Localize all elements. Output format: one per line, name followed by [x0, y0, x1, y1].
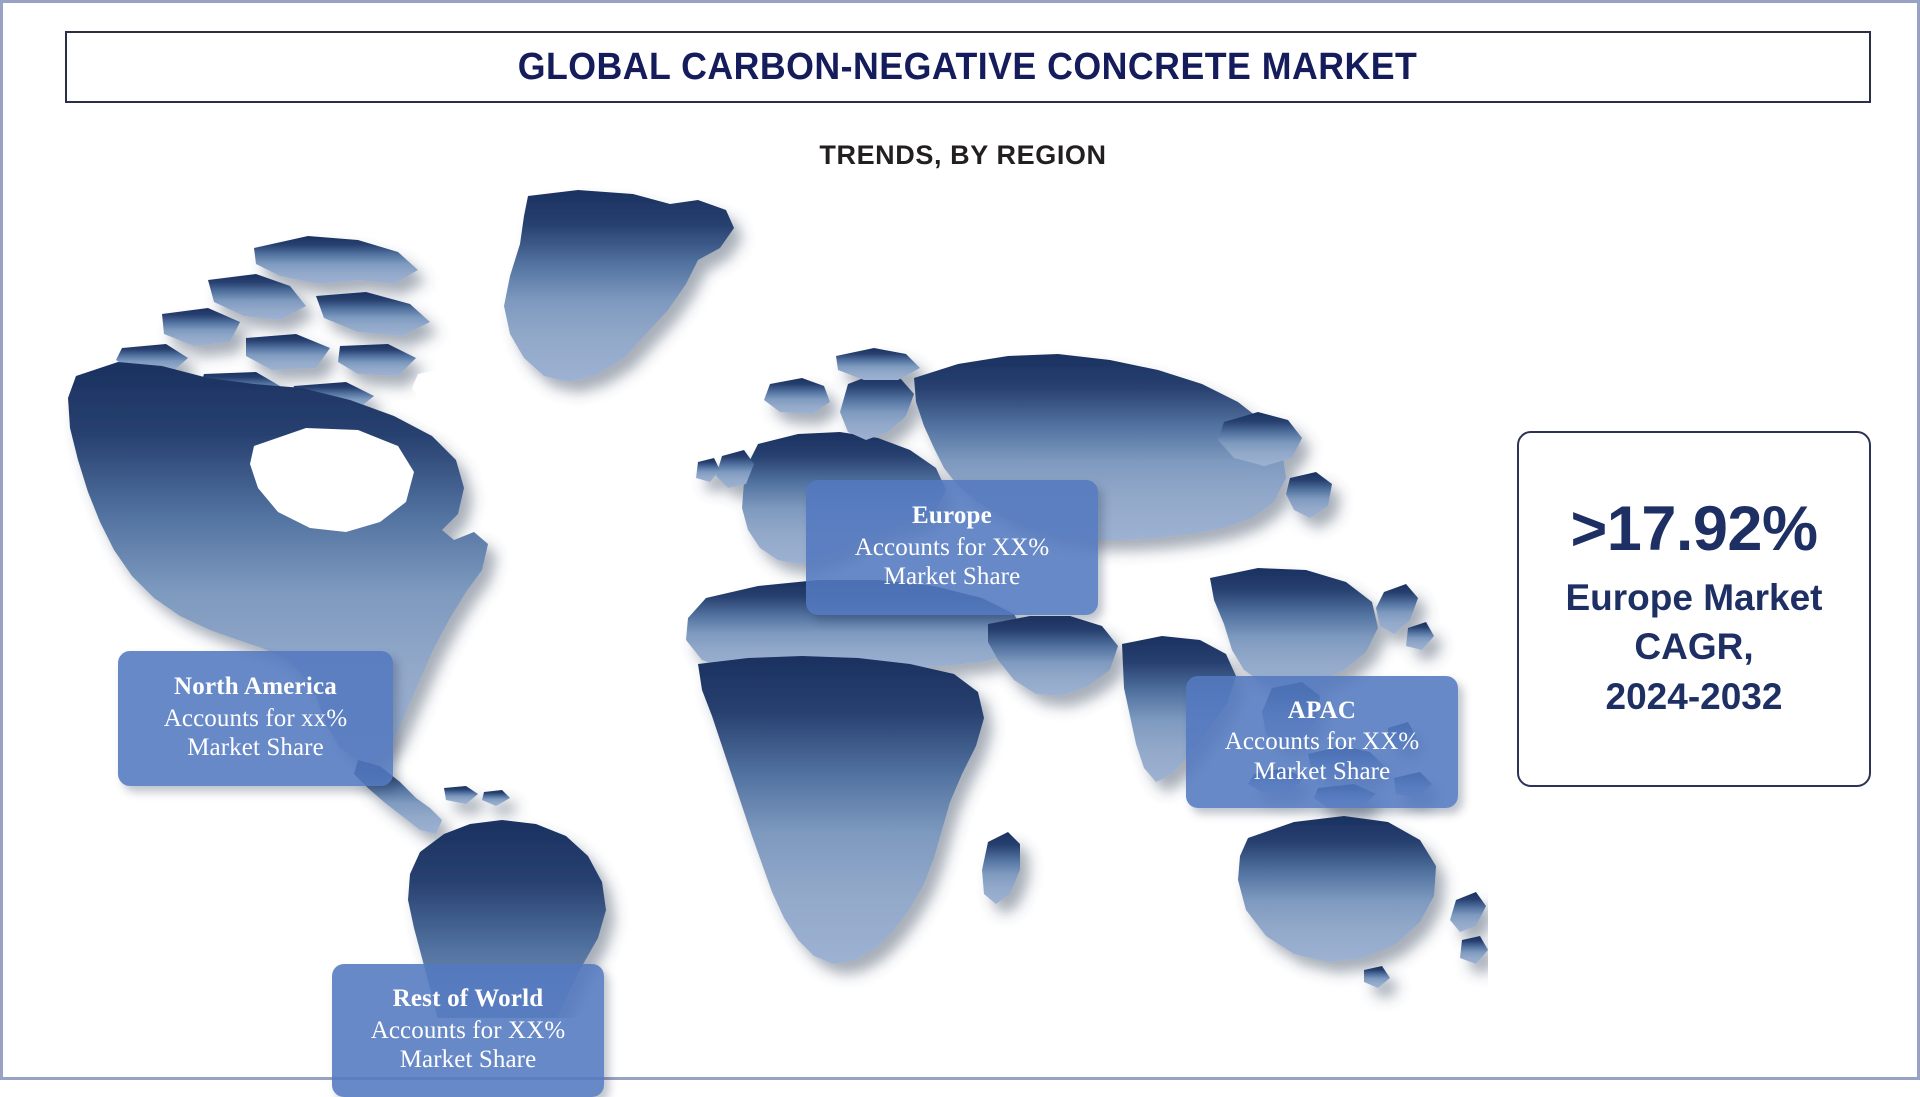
region-callout-europe[interactable]: Europe Accounts for XX% Market Share: [806, 480, 1098, 615]
page-subtitle: TRENDS, BY REGION: [3, 140, 1920, 171]
world-map: North America Accounts for xx% Market Sh…: [58, 188, 1488, 1018]
cagr-caption-line-2: CAGR,: [1565, 622, 1822, 672]
region-metric-line: Market Share: [884, 562, 1021, 592]
page-frame: GLOBAL CARBON-NEGATIVE CONCRETE MARKET T…: [0, 0, 1920, 1080]
region-name: APAC: [1288, 696, 1356, 726]
region-name: North America: [174, 672, 337, 702]
region-metric-line: Market Share: [187, 733, 324, 763]
region-share-line: Accounts for XX%: [855, 533, 1050, 563]
region-name: Europe: [912, 501, 992, 531]
region-name: Rest of World: [393, 984, 544, 1014]
cagr-callout-box: >17.92% Europe Market CAGR, 2024-2032: [1517, 431, 1871, 787]
landmasses: [68, 190, 1488, 1018]
region-metric-line: Market Share: [1254, 757, 1391, 787]
region-callout-north-america[interactable]: North America Accounts for xx% Market Sh…: [118, 651, 393, 786]
cagr-value: >17.92%: [1571, 497, 1818, 561]
region-callout-apac[interactable]: APAC Accounts for XX% Market Share: [1186, 676, 1458, 808]
title-box: GLOBAL CARBON-NEGATIVE CONCRETE MARKET: [65, 31, 1871, 103]
region-share-line: Accounts for XX%: [371, 1016, 566, 1046]
region-share-line: Accounts for XX%: [1225, 727, 1420, 757]
region-share-line: Accounts for xx%: [164, 704, 348, 734]
region-callout-rest-of-world[interactable]: Rest of World Accounts for XX% Market Sh…: [332, 964, 604, 1097]
page-title: GLOBAL CARBON-NEGATIVE CONCRETE MARKET: [518, 46, 1418, 89]
cagr-caption-line-3: 2024-2032: [1565, 672, 1822, 722]
region-metric-line: Market Share: [400, 1045, 537, 1075]
world-map-svg: [58, 188, 1488, 1018]
cagr-caption: Europe Market CAGR, 2024-2032: [1565, 573, 1822, 722]
cagr-caption-line-1: Europe Market: [1565, 573, 1822, 623]
